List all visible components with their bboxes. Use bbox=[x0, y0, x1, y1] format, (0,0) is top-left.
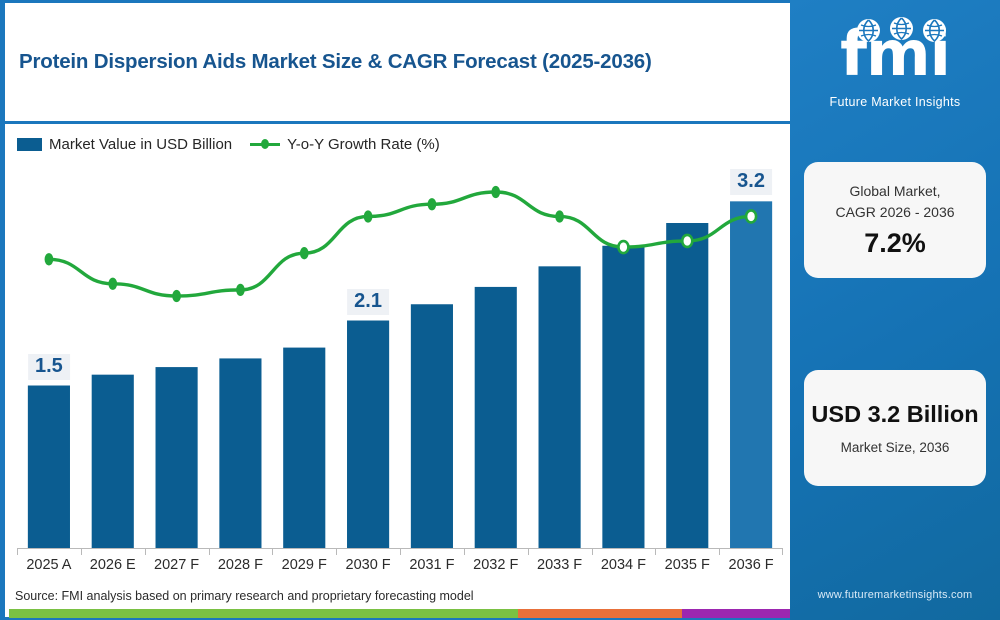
color-strip-segment bbox=[9, 609, 518, 618]
bars-group bbox=[28, 201, 772, 548]
x-axis-tick bbox=[528, 549, 529, 555]
growth-marker-2036-f[interactable] bbox=[746, 210, 756, 222]
legend-label-growth-rate: Y-o-Y Growth Rate (%) bbox=[287, 136, 440, 153]
color-strip-segment bbox=[518, 609, 682, 618]
x-axis-tick bbox=[782, 549, 783, 555]
bar-2026-e[interactable] bbox=[92, 375, 134, 548]
x-axis-label-2025-a: 2025 A bbox=[26, 557, 71, 573]
globe-icon bbox=[923, 19, 946, 42]
bar-2029-f[interactable] bbox=[283, 348, 325, 548]
growth-marker-2027-f[interactable] bbox=[173, 291, 180, 302]
cagr-value: 7.2% bbox=[864, 228, 926, 259]
x-axis-tick bbox=[209, 549, 210, 555]
bar-value-label-2030-f: 2.1 bbox=[347, 289, 389, 315]
brand-panel: fmi bbox=[790, 0, 1000, 620]
x-axis-tick bbox=[400, 549, 401, 555]
market-size-value: USD 3.2 Billion bbox=[811, 401, 978, 428]
growth-line-group bbox=[49, 192, 751, 296]
market-size-caption: Market Size, 2036 bbox=[841, 440, 950, 455]
x-axis-label-2035-f: 2035 F bbox=[665, 557, 710, 573]
fmi-logo: fmi bbox=[790, 8, 1000, 118]
growth-marker-2028-f[interactable] bbox=[237, 284, 244, 295]
chart-legend: Market Value in USD Billion Y-o-Y Growth… bbox=[17, 132, 440, 156]
title-bar: Protein Dispersion Aids Market Size & CA… bbox=[5, 3, 790, 121]
growth-marker-2025-a[interactable] bbox=[45, 254, 52, 265]
growth-marker-2033-f[interactable] bbox=[556, 211, 563, 222]
cagr-card-line1: Global Market, bbox=[849, 181, 940, 201]
x-axis: 2025 A2026 E2027 F2028 F2029 F2030 F2031… bbox=[17, 549, 783, 579]
infographic-root: Protein Dispersion Aids Market Size & CA… bbox=[0, 0, 1000, 620]
bar-2036-f[interactable] bbox=[730, 201, 772, 548]
legend-item-market-value[interactable]: Market Value in USD Billion bbox=[17, 136, 232, 153]
bar-2025-a[interactable] bbox=[28, 386, 70, 549]
bar-2034-f[interactable] bbox=[602, 246, 644, 548]
logo-mark: fmi bbox=[810, 17, 980, 99]
growth-rate-line bbox=[49, 192, 751, 296]
growth-marker-2026-e[interactable] bbox=[109, 278, 116, 289]
market-size-stat-card: USD 3.2 Billion Market Size, 2036 bbox=[804, 370, 986, 486]
globe-icon bbox=[857, 19, 880, 42]
footer-color-strip bbox=[9, 609, 792, 618]
globe-icon bbox=[890, 17, 913, 40]
bar-2028-f[interactable] bbox=[219, 358, 261, 548]
x-axis-label-2028-f: 2028 F bbox=[218, 557, 263, 573]
chart-panel: Protein Dispersion Aids Market Size & CA… bbox=[0, 0, 790, 620]
title-divider bbox=[5, 121, 795, 124]
bar-2032-f[interactable] bbox=[475, 287, 517, 548]
line-swatch-icon bbox=[250, 138, 280, 150]
x-axis-label-2032-f: 2032 F bbox=[473, 557, 518, 573]
bar-2033-f[interactable] bbox=[539, 266, 581, 548]
bar-value-label-2025-a: 1.5 bbox=[28, 354, 70, 380]
cagr-stat-card: Global Market, CAGR 2026 - 2036 7.2% bbox=[804, 162, 986, 278]
x-axis-label-2031-f: 2031 F bbox=[409, 557, 454, 573]
chart-svg bbox=[17, 158, 783, 548]
x-axis-tick bbox=[272, 549, 273, 555]
page-title: Protein Dispersion Aids Market Size & CA… bbox=[5, 50, 652, 74]
growth-marker-2030-f[interactable] bbox=[364, 211, 371, 222]
legend-label-market-value: Market Value in USD Billion bbox=[49, 136, 232, 153]
x-axis-tick bbox=[719, 549, 720, 555]
x-axis-label-2029-f: 2029 F bbox=[282, 557, 327, 573]
growth-marker-2029-f[interactable] bbox=[301, 248, 308, 259]
x-axis-tick bbox=[336, 549, 337, 555]
legend-item-growth-rate[interactable]: Y-o-Y Growth Rate (%) bbox=[250, 136, 440, 153]
growth-marker-2035-f[interactable] bbox=[682, 235, 692, 247]
x-axis-tick bbox=[145, 549, 146, 555]
source-note: Source: FMI analysis based on primary re… bbox=[15, 589, 474, 603]
bar-2027-f[interactable] bbox=[156, 367, 198, 548]
plot-area: 1.52.13.2 bbox=[17, 158, 783, 548]
color-strip-segment bbox=[682, 609, 792, 618]
bar-2035-f[interactable] bbox=[666, 223, 708, 548]
x-axis-label-2027-f: 2027 F bbox=[154, 557, 199, 573]
x-axis-label-2036-f: 2036 F bbox=[729, 557, 774, 573]
x-axis-tick bbox=[655, 549, 656, 555]
x-axis-label-2026-e: 2026 E bbox=[90, 557, 136, 573]
cagr-card-line2: CAGR 2026 - 2036 bbox=[835, 202, 954, 222]
x-axis-tick bbox=[464, 549, 465, 555]
growth-marker-2031-f[interactable] bbox=[428, 199, 435, 210]
x-axis-tick bbox=[592, 549, 593, 555]
x-axis-tick bbox=[17, 549, 18, 555]
growth-marker-2032-f[interactable] bbox=[492, 187, 499, 198]
bar-swatch-icon bbox=[17, 138, 42, 151]
bar-2030-f[interactable] bbox=[347, 321, 389, 549]
x-axis-label-2030-f: 2030 F bbox=[346, 557, 391, 573]
x-axis-label-2033-f: 2033 F bbox=[537, 557, 582, 573]
bar-value-label-2036-f: 3.2 bbox=[730, 169, 772, 195]
brand-website-url: www.futuremarketinsights.com bbox=[790, 589, 1000, 601]
x-axis-tick bbox=[81, 549, 82, 555]
bar-2031-f[interactable] bbox=[411, 304, 453, 548]
x-axis-label-2034-f: 2034 F bbox=[601, 557, 646, 573]
growth-marker-2034-f[interactable] bbox=[618, 241, 628, 253]
